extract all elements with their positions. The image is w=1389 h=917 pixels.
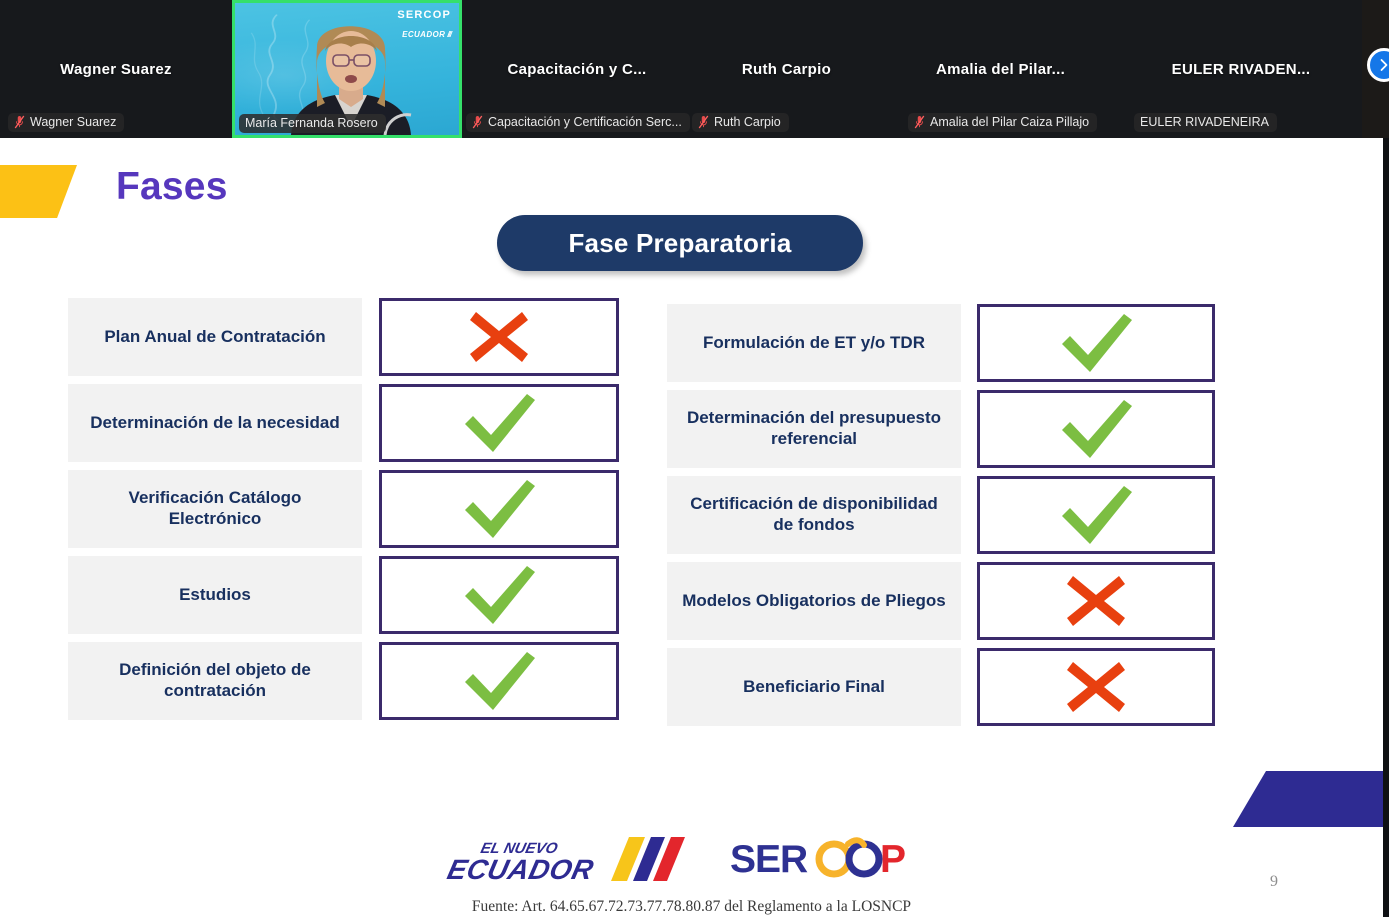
page-number: 9 — [1270, 873, 1278, 891]
table-row: Determinación del presupuesto referencia… — [667, 390, 1217, 468]
row-status-box[interactable] — [379, 556, 619, 634]
row-status-box[interactable] — [977, 476, 1215, 554]
participant-nameplate: Ruth Carpio — [692, 113, 789, 132]
app-root: Wagner Suarez Wagner Suarez SERCO — [0, 0, 1389, 917]
row-label-text: Certificación de disponibilidad de fondo… — [679, 494, 949, 535]
check-icon — [1056, 311, 1136, 375]
blue-accent-shape — [1233, 771, 1383, 827]
yellow-accent-shape — [0, 165, 77, 218]
table-row: Formulación de ET y/o TDR — [667, 304, 1217, 382]
row-label-text: Beneficiario Final — [743, 677, 885, 698]
row-label-text: Determinación de la necesidad — [90, 413, 339, 434]
participant-name: Capacitación y C... — [507, 61, 646, 78]
participant-name: Amalia del Pilar... — [936, 61, 1065, 78]
table-row: Modelos Obligatorios de Pliegos — [667, 562, 1217, 640]
row-label: Modelos Obligatorios de Pliegos — [667, 562, 961, 640]
participant-nameplate: Wagner Suarez — [8, 113, 124, 132]
row-label: Definición del objeto de contratación — [68, 642, 362, 720]
row-status-box[interactable] — [977, 390, 1215, 468]
check-icon — [459, 391, 539, 455]
participant-name: Wagner Suarez — [60, 61, 172, 78]
row-status-box[interactable] — [977, 562, 1215, 640]
chevron-right-icon — [1377, 58, 1389, 72]
row-label-text: Verificación Catálogo Electrónico — [80, 488, 350, 529]
check-icon — [459, 563, 539, 627]
phase-header-label: Fase Preparatoria — [568, 228, 791, 259]
slide-right-gutter — [1383, 138, 1389, 917]
row-label-text: Definición del objeto de contratación — [80, 660, 350, 701]
participant-tile-maria-fernanda-rosero[interactable]: SERCOP ECUADOR/// — [232, 0, 462, 138]
participant-tile-amalia-del-pilar[interactable]: Amalia del Pilar... Amalia del Pilar Cai… — [881, 0, 1120, 138]
row-label: Formulación de ET y/o TDR — [667, 304, 961, 382]
source-note: Fuente: Art. 64.65.67.72.73.77.78.80.87 … — [0, 898, 1383, 916]
participant-nameplate-label: Capacitación y Certificación Serc... — [488, 115, 682, 129]
participant-nameplate: María Fernanda Rosero — [239, 114, 386, 133]
row-label: Plan Anual de Contratación — [68, 298, 362, 376]
el-nuevo-ecuador-logo: EL NUEVO ECUADOR — [443, 831, 688, 887]
cross-icon — [1061, 570, 1131, 632]
ecuador-logo-text: ECUADOR — [444, 854, 596, 886]
cross-icon — [464, 306, 534, 368]
row-status-box[interactable] — [379, 642, 619, 720]
sercop-logo-text-ser: SER — [730, 838, 808, 881]
row-label-text: Formulación de ET y/o TDR — [703, 333, 925, 354]
participant-name: Ruth Carpio — [742, 61, 831, 78]
mic-muted-icon — [14, 115, 25, 129]
row-label-text: Modelos Obligatorios de Pliegos — [682, 591, 946, 612]
participant-nameplate-label: Wagner Suarez — [30, 115, 116, 129]
participant-nameplate: Capacitación y Certificación Serc... — [466, 113, 690, 132]
table-row: Plan Anual de Contratación — [68, 298, 620, 376]
right-column: Formulación de ET y/o TDR Determinación … — [667, 304, 1217, 734]
participant-nameplate: EULER RIVADENEIRA — [1134, 113, 1277, 132]
row-status-box[interactable] — [379, 470, 619, 548]
table-row: Verificación Catálogo Electrónico — [68, 470, 620, 548]
slide-title: Fases — [116, 165, 228, 209]
table-row: Definición del objeto de contratación — [68, 642, 620, 720]
ecuador-flag-bars — [611, 837, 685, 881]
check-icon — [459, 477, 539, 541]
footer-logos: EL NUEVO ECUADOR SER P — [0, 828, 1383, 890]
check-icon — [1056, 483, 1136, 547]
participant-name: EULER RIVADEN... — [1172, 61, 1311, 78]
row-status-box[interactable] — [977, 648, 1215, 726]
check-icon — [1056, 397, 1136, 461]
row-label: Beneficiario Final — [667, 648, 961, 726]
table-row: Estudios — [68, 556, 620, 634]
row-label-text: Plan Anual de Contratación — [104, 327, 325, 348]
row-status-box[interactable] — [379, 298, 619, 376]
video-participant-strip: Wagner Suarez Wagner Suarez SERCO — [0, 0, 1389, 138]
participant-tile-wagner-suarez[interactable]: Wagner Suarez Wagner Suarez — [0, 0, 232, 138]
check-icon — [459, 649, 539, 713]
participant-nameplate-label: Amalia del Pilar Caiza Pillajo — [930, 115, 1089, 129]
participant-nameplate-label: EULER RIVADENEIRA — [1140, 115, 1269, 129]
row-label: Estudios — [68, 556, 362, 634]
row-label: Determinación del presupuesto referencia… — [667, 390, 961, 468]
presentation-slide: Fases Fase Preparatoria Plan Anual de Co… — [0, 138, 1383, 917]
mic-muted-icon — [472, 115, 483, 129]
mic-muted-icon — [914, 115, 925, 129]
left-column: Plan Anual de Contratación Determinación… — [68, 298, 620, 728]
row-label-text: Estudios — [179, 585, 251, 606]
row-status-box[interactable] — [977, 304, 1215, 382]
participant-nameplate: Amalia del Pilar Caiza Pillajo — [908, 113, 1097, 132]
row-status-box[interactable] — [379, 384, 619, 462]
participant-nameplate-label: María Fernanda Rosero — [245, 116, 378, 130]
participant-tile-capacitacion[interactable]: Capacitación y C... Capacitación y Certi… — [462, 0, 692, 138]
row-label: Determinación de la necesidad — [68, 384, 362, 462]
participant-nameplate-label: Ruth Carpio — [714, 115, 781, 129]
row-label: Certificación de disponibilidad de fondo… — [667, 476, 961, 554]
table-row: Determinación de la necesidad — [68, 384, 620, 462]
participant-tile-ruth-carpio[interactable]: Ruth Carpio Ruth Carpio — [692, 0, 881, 138]
sercop-logo-text-p: P — [880, 838, 905, 881]
mic-muted-icon — [698, 115, 709, 129]
table-row: Beneficiario Final — [667, 648, 1217, 726]
sercop-logo: SER P — [730, 834, 940, 884]
row-label: Verificación Catálogo Electrónico — [68, 470, 362, 548]
phase-header-pill: Fase Preparatoria — [497, 215, 863, 271]
participant-tile-euler-rivadeneira[interactable]: EULER RIVADEN... EULER RIVADENEIRA — [1120, 0, 1362, 138]
table-row: Certificación de disponibilidad de fondo… — [667, 476, 1217, 554]
row-label-text: Determinación del presupuesto referencia… — [679, 408, 949, 449]
cross-icon — [1061, 656, 1131, 718]
